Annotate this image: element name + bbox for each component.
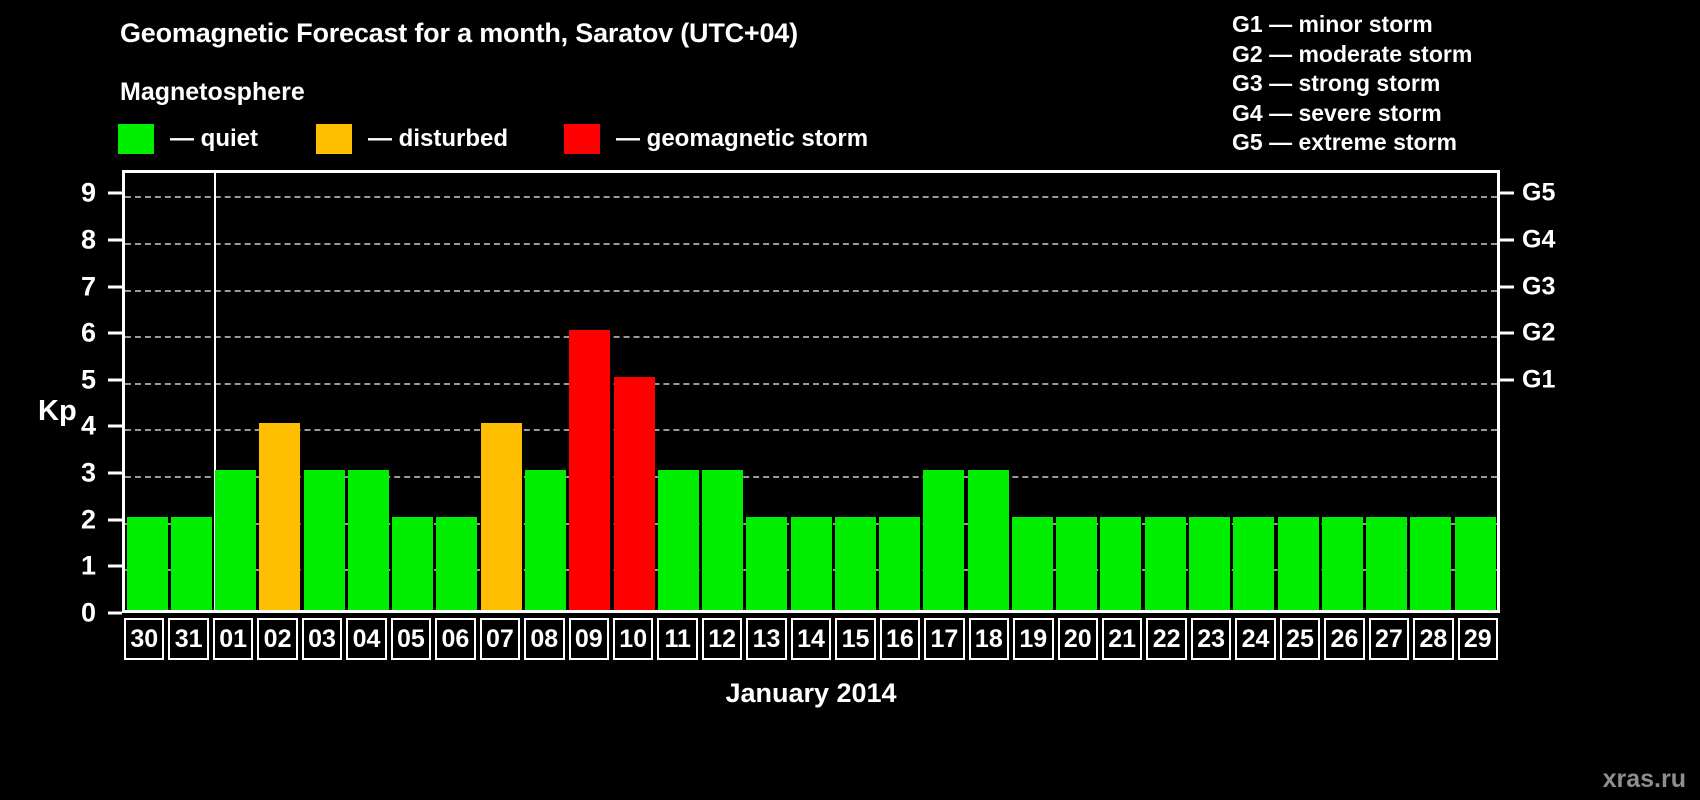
- bar-day-29: [1455, 517, 1496, 610]
- bar-slot-26: [1320, 173, 1364, 610]
- day-label-31: 31: [168, 618, 208, 660]
- watermark: xras.ru: [1603, 765, 1686, 794]
- g-tick-label-g2: G2: [1522, 319, 1555, 348]
- y-tick-mark-6: [108, 332, 122, 335]
- bar-day-14: [791, 517, 832, 610]
- g-scale-legend-g4: G4 — severe storm: [1232, 99, 1472, 129]
- bar-slot-19: [1010, 173, 1054, 610]
- g-scale-axis: G5G4G3G2G1: [1500, 170, 1620, 613]
- day-label-28: 28: [1413, 618, 1453, 660]
- g-tick-label-g5: G5: [1522, 179, 1555, 208]
- y-tick-mark-2: [108, 518, 122, 521]
- y-axis: 9876543210: [0, 170, 122, 613]
- bar-slot-23: [1187, 173, 1231, 610]
- bar-day-15: [835, 517, 876, 610]
- day-label-08: 08: [524, 618, 564, 660]
- y-tick-mark-5: [108, 378, 122, 381]
- day-label-14: 14: [791, 618, 831, 660]
- bar-series: [125, 173, 1497, 610]
- legend-label-geomagnetic-storm: — geomagnetic storm: [616, 125, 868, 153]
- y-tick-label-2: 2: [81, 504, 96, 535]
- bar-slot-03: [302, 173, 346, 610]
- day-label-22: 22: [1146, 618, 1186, 660]
- day-label-17: 17: [924, 618, 964, 660]
- g-tick-mark-g1: [1500, 378, 1514, 381]
- bar-day-02: [259, 423, 300, 610]
- day-label-03: 03: [302, 618, 342, 660]
- g-scale-legend: G1 — minor stormG2 — moderate stormG3 — …: [1232, 10, 1472, 158]
- y-tick-mark-9: [108, 192, 122, 195]
- bar-slot-31: [169, 173, 213, 610]
- bar-slot-06: [435, 173, 479, 610]
- x-axis-label: January 2014: [122, 678, 1500, 709]
- bar-slot-17: [922, 173, 966, 610]
- y-tick-mark-4: [108, 425, 122, 428]
- bar-slot-14: [789, 173, 833, 610]
- g-tick-label-g4: G4: [1522, 225, 1555, 254]
- y-tick-mark-3: [108, 472, 122, 475]
- bar-slot-13: [745, 173, 789, 610]
- bar-day-10: [614, 377, 655, 610]
- legend-label-quiet: — quiet: [170, 125, 258, 153]
- bar-slot-16: [878, 173, 922, 610]
- legend-entry-geomagnetic-storm: — geomagnetic storm: [564, 122, 868, 156]
- bar-slot-09: [568, 173, 612, 610]
- g-tick-mark-g3: [1500, 285, 1514, 288]
- day-label-26: 26: [1324, 618, 1364, 660]
- bar-day-21: [1100, 517, 1141, 610]
- bar-day-22: [1145, 517, 1186, 610]
- bar-slot-30: [125, 173, 169, 610]
- day-label-29: 29: [1458, 618, 1498, 660]
- bar-day-31: [171, 517, 212, 610]
- legend-swatch-geomagnetic-storm: [564, 124, 600, 154]
- day-label-06: 06: [435, 618, 475, 660]
- day-label-07: 07: [480, 618, 520, 660]
- y-tick-mark-0: [108, 612, 122, 615]
- y-tick-mark-8: [108, 238, 122, 241]
- page-title: Geomagnetic Forecast for a month, Sarato…: [120, 18, 798, 49]
- day-label-12: 12: [702, 618, 742, 660]
- bar-day-28: [1410, 517, 1451, 610]
- bar-day-30: [127, 517, 168, 610]
- bar-slot-11: [656, 173, 700, 610]
- bar-slot-24: [1232, 173, 1276, 610]
- day-label-15: 15: [835, 618, 875, 660]
- g-tick-label-g3: G3: [1522, 272, 1555, 301]
- bar-day-09: [569, 330, 610, 610]
- legend-entry-quiet: — quiet: [118, 122, 258, 156]
- bar-day-18: [968, 470, 1009, 610]
- y-tick-label-4: 4: [81, 411, 96, 442]
- g-tick-mark-g4: [1500, 238, 1514, 241]
- bar-day-13: [746, 517, 787, 610]
- bar-slot-25: [1276, 173, 1320, 610]
- day-label-19: 19: [1013, 618, 1053, 660]
- bar-slot-20: [1055, 173, 1099, 610]
- bar-slot-29: [1453, 173, 1497, 610]
- bar-day-23: [1189, 517, 1230, 610]
- bar-day-08: [525, 470, 566, 610]
- bar-day-07: [481, 423, 522, 610]
- day-label-04: 04: [346, 618, 386, 660]
- day-label-21: 21: [1102, 618, 1142, 660]
- bar-day-19: [1012, 517, 1053, 610]
- day-label-02: 02: [257, 618, 297, 660]
- day-label-01: 01: [213, 618, 253, 660]
- day-label-10: 10: [613, 618, 653, 660]
- day-label-20: 20: [1058, 618, 1098, 660]
- g-scale-legend-g3: G3 — strong storm: [1232, 69, 1472, 99]
- bar-slot-08: [523, 173, 567, 610]
- day-label-09: 09: [569, 618, 609, 660]
- y-tick-label-5: 5: [81, 364, 96, 395]
- bar-slot-02: [258, 173, 302, 610]
- bar-day-20: [1056, 517, 1097, 610]
- y-tick-label-9: 9: [81, 178, 96, 209]
- bar-day-27: [1366, 517, 1407, 610]
- bar-day-01: [215, 470, 256, 610]
- bar-day-16: [879, 517, 920, 610]
- legend-swatch-quiet: [118, 124, 154, 154]
- day-label-05: 05: [391, 618, 431, 660]
- bar-slot-12: [700, 173, 744, 610]
- bar-slot-15: [833, 173, 877, 610]
- y-tick-label-6: 6: [81, 318, 96, 349]
- legend-entry-disturbed: — disturbed: [316, 122, 508, 156]
- day-label-18: 18: [969, 618, 1009, 660]
- bar-slot-04: [346, 173, 390, 610]
- magnetosphere-label: Magnetosphere: [120, 78, 305, 107]
- y-tick-label-1: 1: [81, 551, 96, 582]
- y-tick-mark-7: [108, 285, 122, 288]
- day-label-13: 13: [746, 618, 786, 660]
- legend-swatch-disturbed: [316, 124, 352, 154]
- bar-day-05: [392, 517, 433, 610]
- day-label-23: 23: [1191, 618, 1231, 660]
- day-label-24: 24: [1235, 618, 1275, 660]
- bar-slot-22: [1143, 173, 1187, 610]
- bar-day-24: [1233, 517, 1274, 610]
- y-tick-label-8: 8: [81, 224, 96, 255]
- y-axis-label: Kp: [38, 395, 77, 428]
- bar-slot-18: [966, 173, 1010, 610]
- bar-day-12: [702, 470, 743, 610]
- g-tick-label-g1: G1: [1522, 365, 1555, 394]
- day-label-11: 11: [657, 618, 697, 660]
- y-tick-mark-1: [108, 565, 122, 568]
- day-label-30: 30: [124, 618, 164, 660]
- g-scale-legend-g1: G1 — minor storm: [1232, 10, 1472, 40]
- y-tick-label-7: 7: [81, 271, 96, 302]
- day-label-16: 16: [880, 618, 920, 660]
- g-tick-mark-g5: [1500, 192, 1514, 195]
- day-label-27: 27: [1369, 618, 1409, 660]
- g-scale-legend-g2: G2 — moderate storm: [1232, 40, 1472, 70]
- bar-slot-28: [1409, 173, 1453, 610]
- bar-slot-21: [1099, 173, 1143, 610]
- bar-day-25: [1278, 517, 1319, 610]
- g-tick-mark-g2: [1500, 332, 1514, 335]
- y-tick-label-3: 3: [81, 458, 96, 489]
- bar-slot-10: [612, 173, 656, 610]
- legend-label-disturbed: — disturbed: [368, 125, 508, 153]
- bar-day-11: [658, 470, 699, 610]
- bar-day-04: [348, 470, 389, 610]
- bar-slot-01: [214, 173, 258, 610]
- bar-day-17: [923, 470, 964, 610]
- bar-day-06: [436, 517, 477, 610]
- x-axis-day-labels: 3031010203040506070809101112131415161718…: [122, 618, 1500, 660]
- y-tick-label-0: 0: [81, 598, 96, 629]
- plot-area: [122, 170, 1500, 613]
- g-scale-legend-g5: G5 — extreme storm: [1232, 128, 1472, 158]
- bar-day-26: [1322, 517, 1363, 610]
- bar-slot-27: [1364, 173, 1408, 610]
- day-label-25: 25: [1280, 618, 1320, 660]
- bar-slot-05: [391, 173, 435, 610]
- bar-day-03: [304, 470, 345, 610]
- bar-slot-07: [479, 173, 523, 610]
